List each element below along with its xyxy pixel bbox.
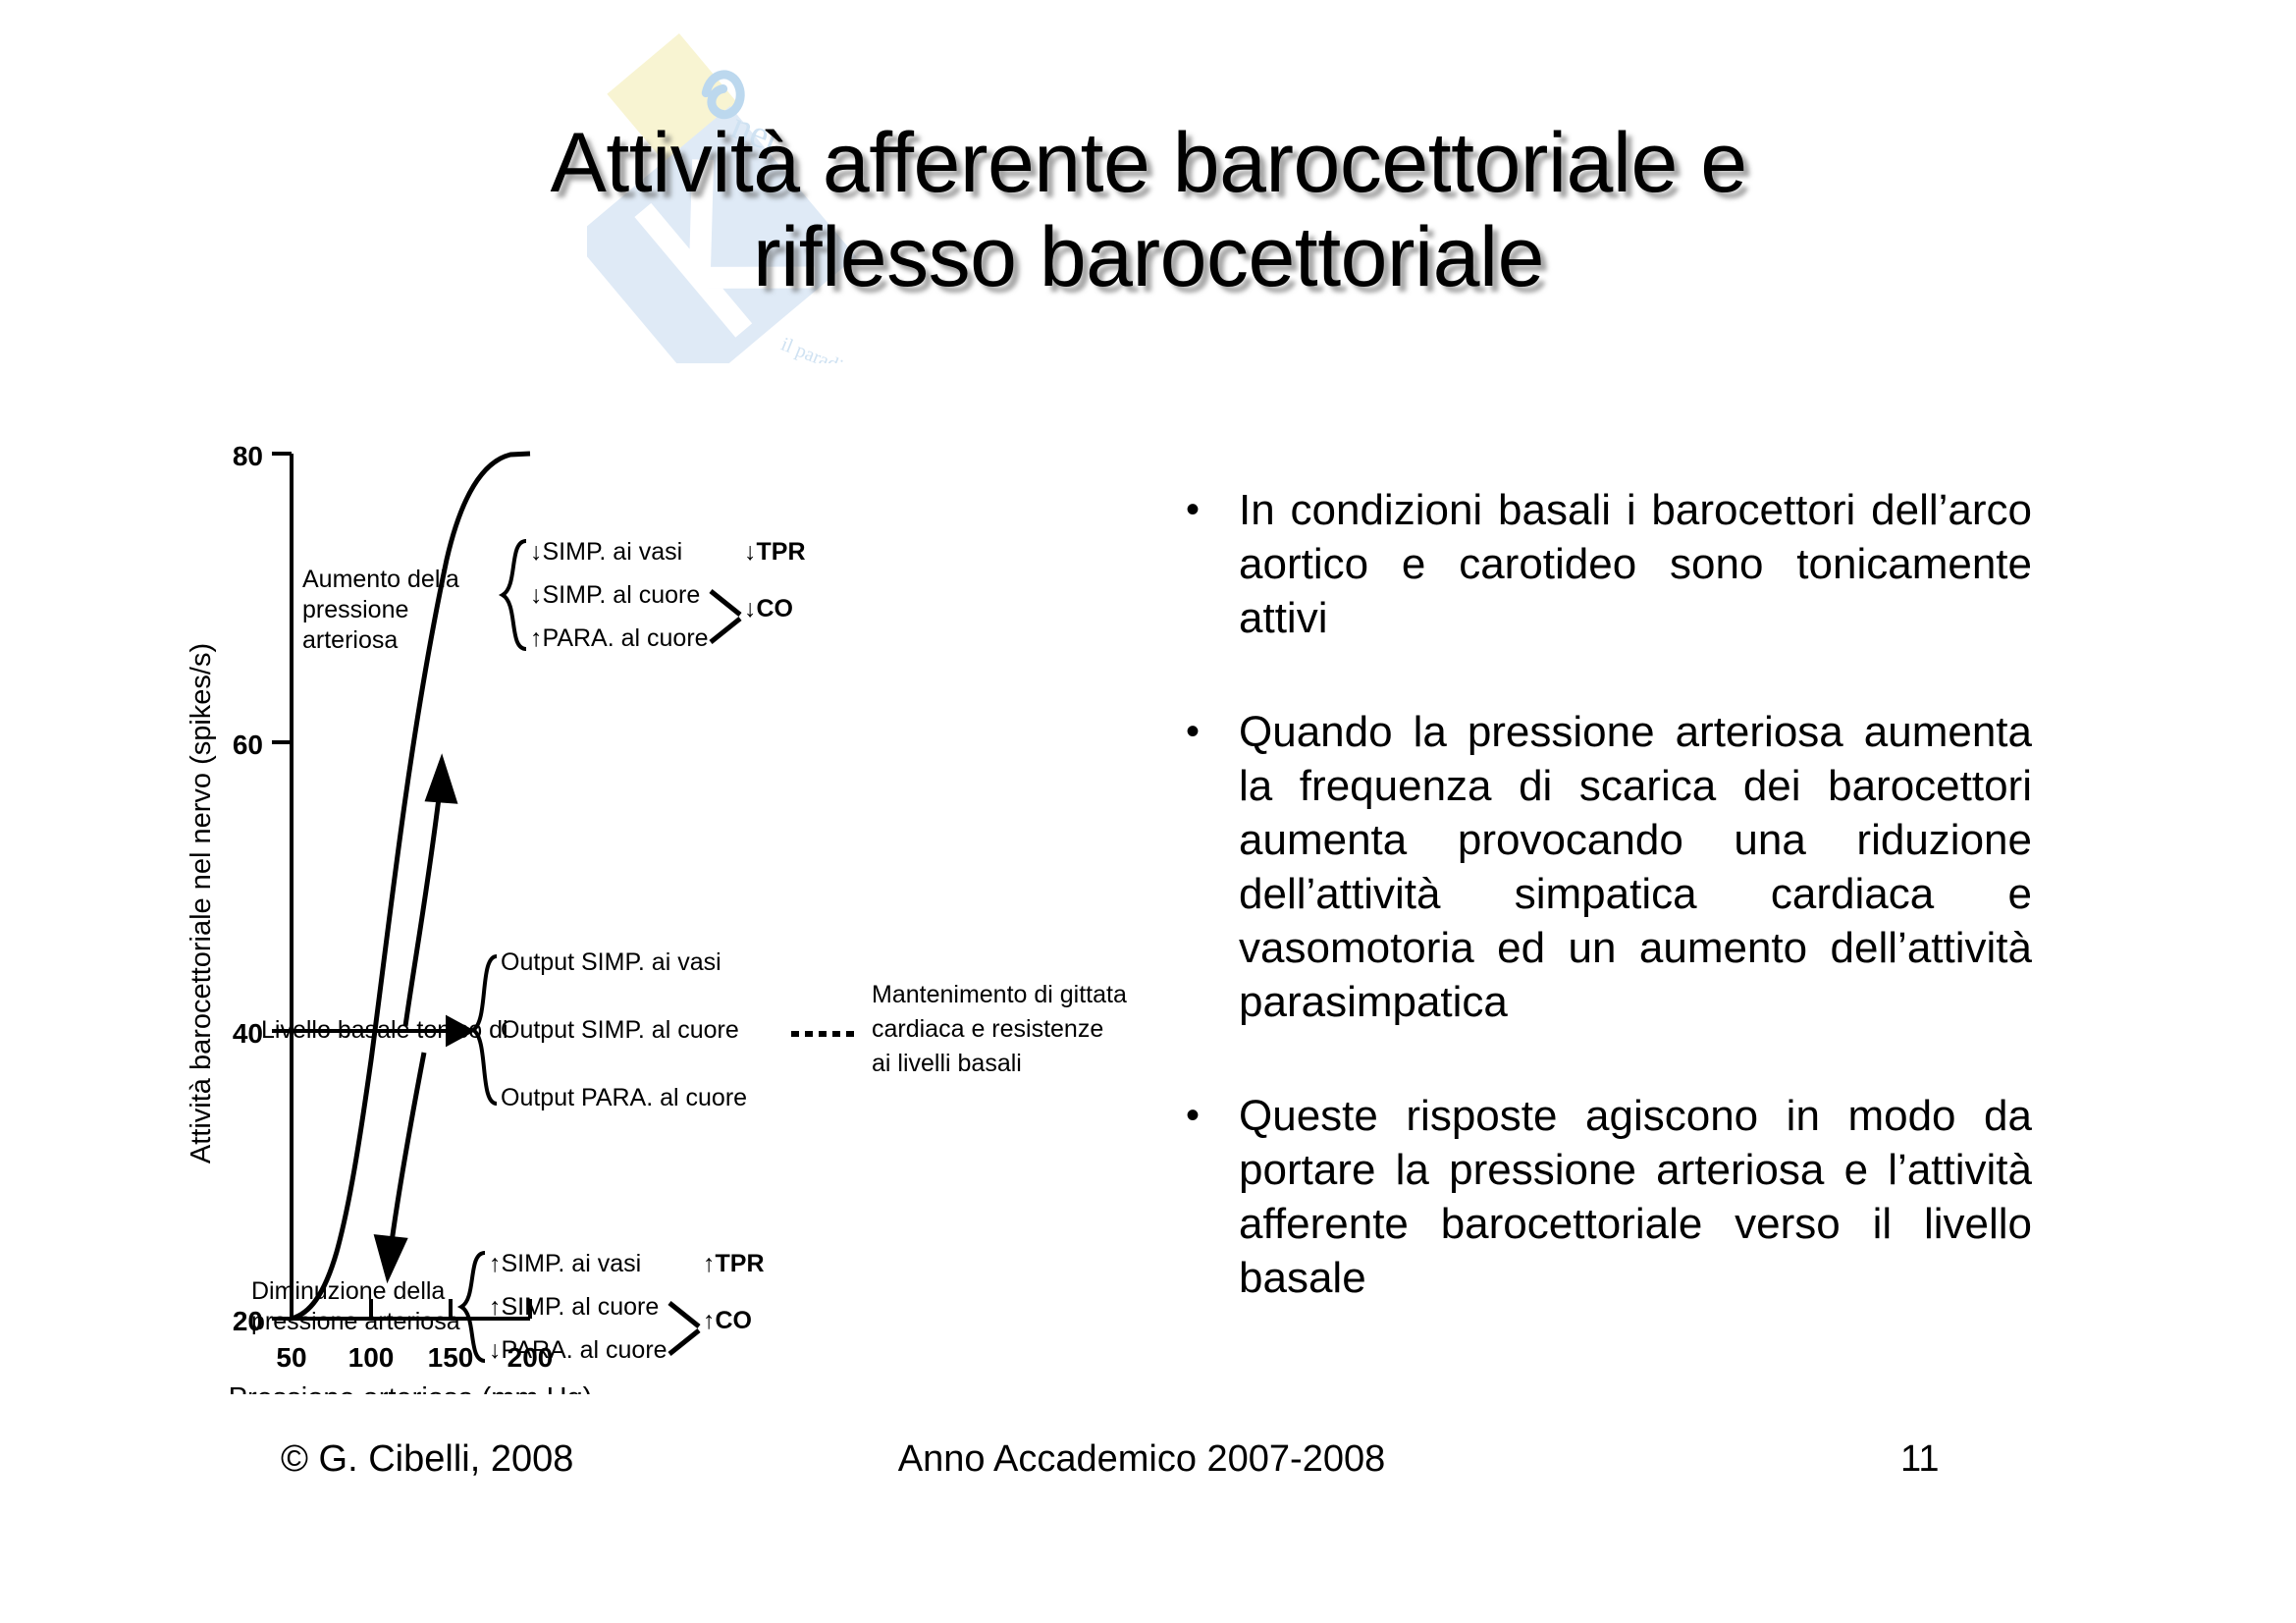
decrease-row-1: ↑SIMP. al cuore — [489, 1293, 659, 1322]
slide-footer: © G. Cibelli, 2008 Anno Accademico 2007-… — [0, 1435, 2296, 1494]
arrow-down-icon: ↓ — [489, 1336, 502, 1364]
basal-result: Mantenimento di gittata cardiaca e resis… — [872, 978, 1127, 1081]
bullet-text: Queste risposte agiscono in modo da port… — [1239, 1089, 2032, 1359]
arrow-up-icon: ↑ — [530, 624, 543, 652]
footer-page-number: 11 — [1900, 1435, 1939, 1483]
list-item: • In condizioni basali i barocettori del… — [1168, 483, 2032, 699]
increase-row-0: ↓SIMP. ai vasi — [530, 538, 682, 567]
bullet-text: In condizioni basali i barocettori dell’… — [1239, 483, 2032, 699]
basal-result-line-0: Mantenimento di gittata — [872, 978, 1127, 1012]
arrow-up-icon: ↑ — [489, 1293, 502, 1321]
arrow-down-icon: ↓ — [530, 581, 543, 609]
bullet-marker-icon: • — [1168, 483, 1239, 536]
basal-row-1: Output SIMP. al cuore — [501, 1016, 739, 1045]
list-item: • Quando la pressione arteriosa aumenta … — [1168, 705, 2032, 1083]
footer-academic-year: Anno Accademico 2007-2008 — [898, 1435, 1385, 1483]
basal-result-line-1: cardiaca e resistenze — [872, 1012, 1127, 1047]
arrow-up-icon: ↑ — [489, 1250, 502, 1277]
increase-row-1: ↓SIMP. al cuore — [530, 581, 700, 610]
arrow-down-icon: ↓ — [530, 538, 543, 566]
decrease-row-0: ↑SIMP. ai vasi — [489, 1250, 641, 1278]
list-item: • Queste risposte agiscono in modo da po… — [1168, 1089, 2032, 1359]
arrow-up-icon: ↑ — [703, 1307, 716, 1334]
svg-text:il paradiso dello studente: il paradiso dello studente — [778, 334, 911, 363]
bullet-marker-icon: • — [1168, 1089, 1239, 1142]
slide-title: Attività afferente barocettoriale e rifl… — [167, 116, 2130, 305]
basal-dotted-connector — [789, 1029, 862, 1039]
bullet-marker-icon: • — [1168, 705, 1239, 758]
bullet-text: Quando la pressione arteriosa aumenta la… — [1239, 705, 2032, 1083]
basal-row-0: Output SIMP. ai vasi — [501, 948, 721, 977]
arrow-down-icon: ↓ — [744, 538, 757, 566]
basal-result-line-2: ai livelli basali — [872, 1047, 1127, 1081]
increase-row-2: ↑PARA. al cuore — [530, 624, 709, 653]
decrease-row-2: ↓PARA. al cuore — [489, 1336, 667, 1365]
decrease-output-tpr: ↑TPR — [703, 1250, 765, 1278]
bullet-list: • In condizioni basali i barocettori del… — [1168, 483, 2032, 1365]
decrease-output-co: ↑CO — [703, 1307, 752, 1335]
increase-label: Aumento della pressione arteriosa — [302, 565, 499, 656]
footer-copyright: © G. Cibelli, 2008 — [281, 1435, 573, 1483]
basal-row-2: Output PARA. al cuore — [501, 1084, 747, 1112]
slide-canvas: net il paradiso dello studente Attività … — [0, 0, 2296, 1623]
arrow-up-icon: ↑ — [703, 1250, 716, 1277]
baroreceptor-figure: 80 60 40 20 50 100 150 200 Pressione art… — [177, 412, 1168, 1394]
arrow-down-icon: ↓ — [744, 595, 757, 622]
increase-output-co: ↓CO — [744, 595, 793, 623]
decrease-label: Diminuzione della pressione arteriosa — [251, 1276, 462, 1337]
increase-output-tpr: ↓TPR — [744, 538, 806, 567]
